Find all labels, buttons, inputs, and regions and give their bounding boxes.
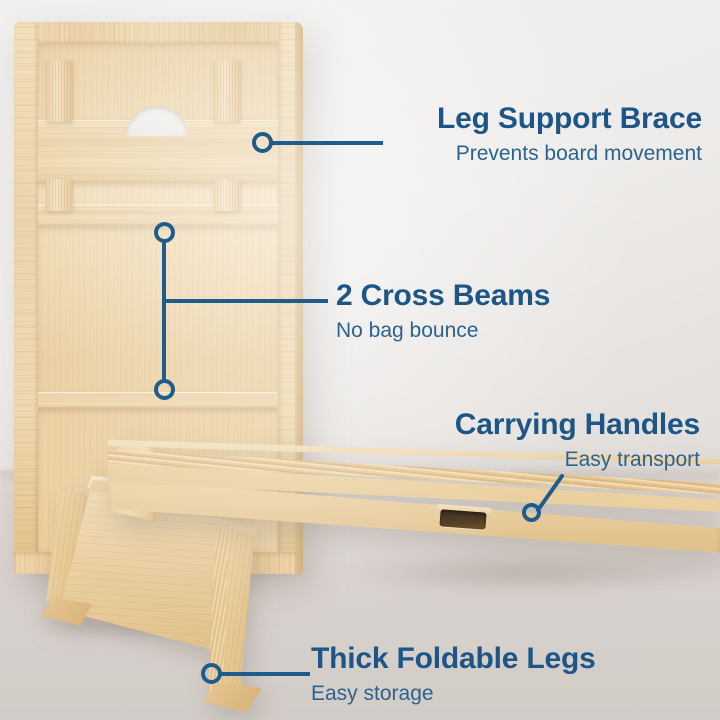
product-infographic: Leg Support Brace Prevents board movemen… bbox=[0, 0, 720, 720]
callout-subtitle: Easy transport bbox=[300, 449, 700, 470]
leg-support-brace-ring-marker bbox=[252, 132, 273, 153]
callout-title: Thick Foldable Legs bbox=[311, 644, 711, 674]
foldable-legs-ring-marker bbox=[201, 663, 222, 684]
callout-carrying-handles: Carrying Handles Easy transport bbox=[300, 410, 700, 470]
callout-subtitle: Easy storage bbox=[311, 683, 711, 704]
cross-beams-leader-vertical bbox=[162, 241, 166, 381]
callout-title: Carrying Handles bbox=[300, 410, 700, 440]
cross-beams-ring-marker-lower bbox=[154, 379, 175, 400]
callout-cross-beams: 2 Cross Beams No bag bounce bbox=[336, 281, 696, 341]
carrying-handles-leader-line bbox=[500, 462, 590, 522]
callout-title: Leg Support Brace bbox=[302, 104, 702, 134]
callout-leg-support-brace: Leg Support Brace Prevents board movemen… bbox=[302, 104, 702, 164]
cross-beams-leader-horizontal bbox=[162, 299, 328, 303]
callout-title: 2 Cross Beams bbox=[336, 281, 696, 311]
callout-subtitle: No bag bounce bbox=[336, 320, 696, 341]
cross-beams-ring-marker-upper bbox=[154, 222, 175, 243]
foldable-legs-leader-line bbox=[220, 672, 310, 676]
callout-subtitle: Prevents board movement bbox=[302, 143, 702, 164]
callout-foldable-legs: Thick Foldable Legs Easy storage bbox=[311, 644, 711, 704]
